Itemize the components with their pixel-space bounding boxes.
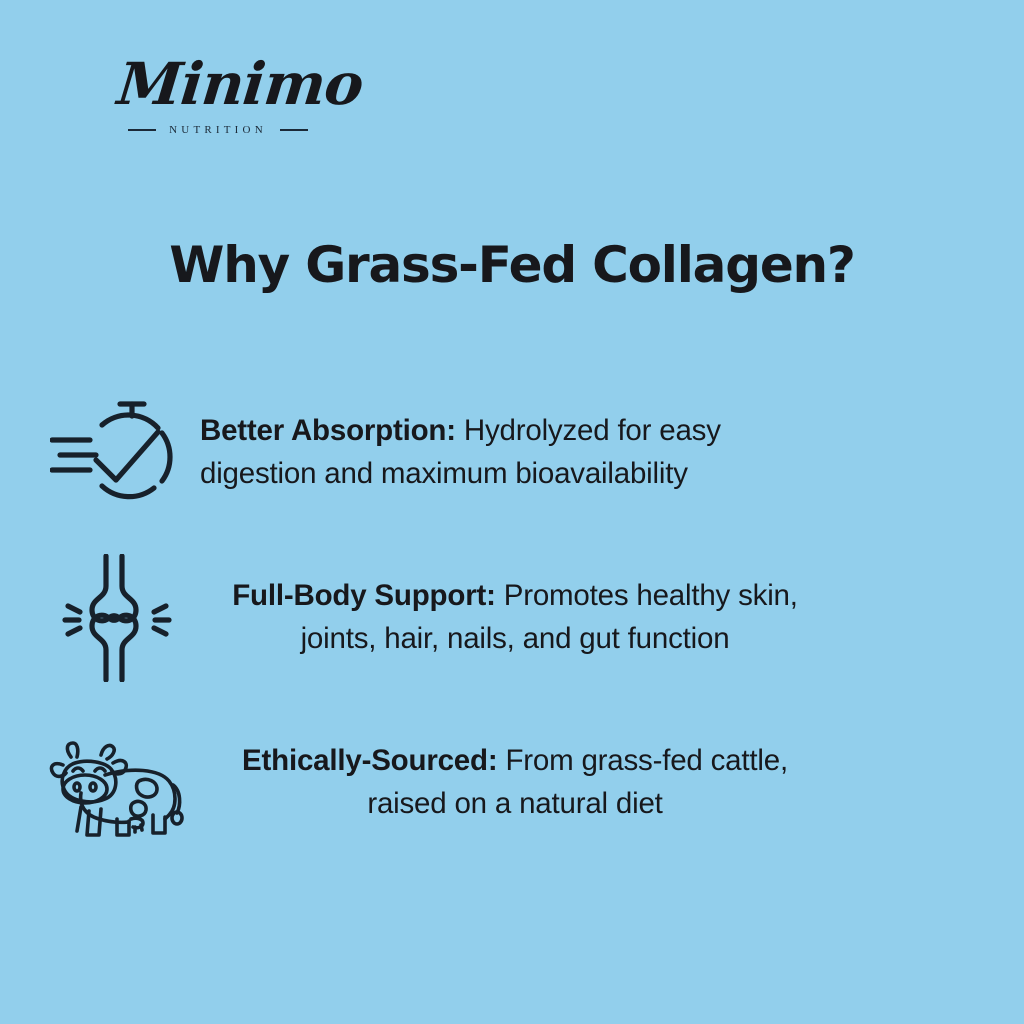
logo-rule-left — [128, 129, 156, 131]
benefit-item-support: Full-Body Support: Promotes healthy skin… — [0, 543, 1024, 693]
benefit-label: Full-Body Support: — [232, 579, 496, 612]
brand-subtext-row: NUTRITION — [118, 124, 318, 136]
poster-canvas: Minimo NUTRITION Why Grass-Fed Collagen? — [0, 0, 1024, 1024]
page-title: Why Grass-Fed Collagen? — [0, 236, 1024, 294]
brand-wordmark: Minimo — [115, 55, 321, 113]
stopwatch-check-icon — [42, 398, 192, 508]
benefits-list: Better Absorption: Hydrolyzed for easy d… — [0, 378, 1024, 873]
brand-subtext: NUTRITION — [169, 124, 267, 136]
logo-rule-right — [280, 129, 308, 131]
benefit-label: Better Absorption: — [200, 414, 456, 447]
benefit-item-absorption: Better Absorption: Hydrolyzed for easy d… — [0, 378, 1024, 528]
benefit-text-absorption: Better Absorption: Hydrolyzed for easy d… — [200, 410, 830, 496]
benefit-text-sourcing: Ethically-Sourced: From grass-fed cattle… — [200, 740, 830, 826]
brand-logo: Minimo NUTRITION — [118, 55, 318, 136]
benefit-label: Ethically-Sourced: — [242, 744, 497, 777]
knee-joint-icon — [42, 554, 192, 682]
benefit-text-support: Full-Body Support: Promotes healthy skin… — [200, 575, 830, 661]
benefit-item-sourcing: Ethically-Sourced: From grass-fed cattle… — [0, 708, 1024, 858]
cow-icon — [42, 723, 192, 843]
